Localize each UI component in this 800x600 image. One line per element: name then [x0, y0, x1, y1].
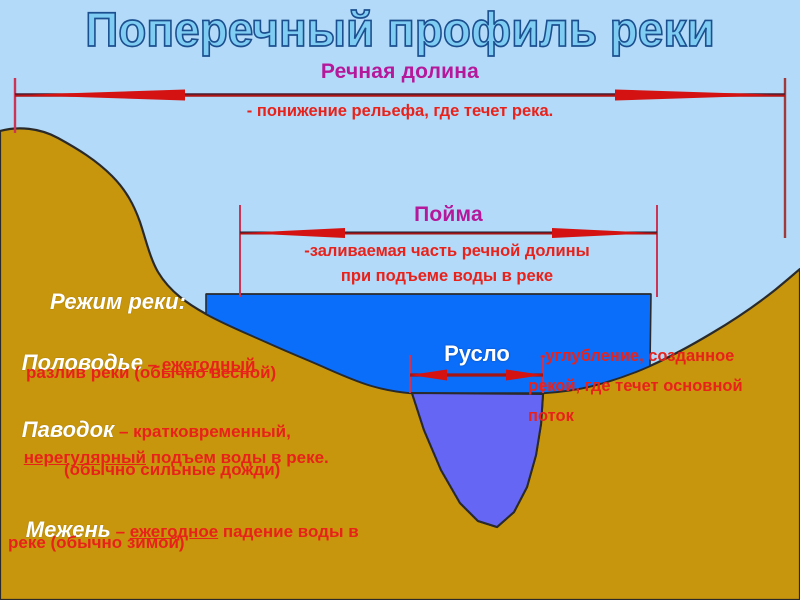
- title-text: Поперечный профиль реки: [85, 2, 715, 56]
- regime-entry-mezhen-line2: реке (обычно зимой): [8, 533, 185, 552]
- regime-entry-polovodye-line2: разлив реки (обычно весной): [26, 363, 276, 382]
- title-wordart: Поперечный профиль реки: [0, 0, 800, 58]
- channel-term-label: Русло: [411, 342, 543, 367]
- channel-description-line1: -углубление, созданное: [540, 347, 734, 365]
- valley-term-label: Речная долина: [0, 60, 800, 84]
- river-cross-section-diagram: Поперечный профиль реки Речная долина - …: [0, 0, 800, 600]
- floodplain-term-label: Пойма: [240, 203, 657, 227]
- channel-description-line2: рекой, где течет основной: [528, 377, 743, 395]
- regime-rest-mezhen: падение воды в: [218, 522, 358, 541]
- floodplain-description-line1: -заливаемая часть речной долины: [232, 242, 662, 260]
- floodplain-description-line2: при подъеме воды в реке: [232, 267, 662, 285]
- regime-entry-pavodok-line3: (обычно сильные дожди): [64, 460, 280, 479]
- valley-description: - понижение рельефа, где течет река.: [0, 102, 800, 120]
- regime-heading: Режим реки:: [50, 290, 186, 315]
- channel-description-line3: поток: [528, 407, 574, 425]
